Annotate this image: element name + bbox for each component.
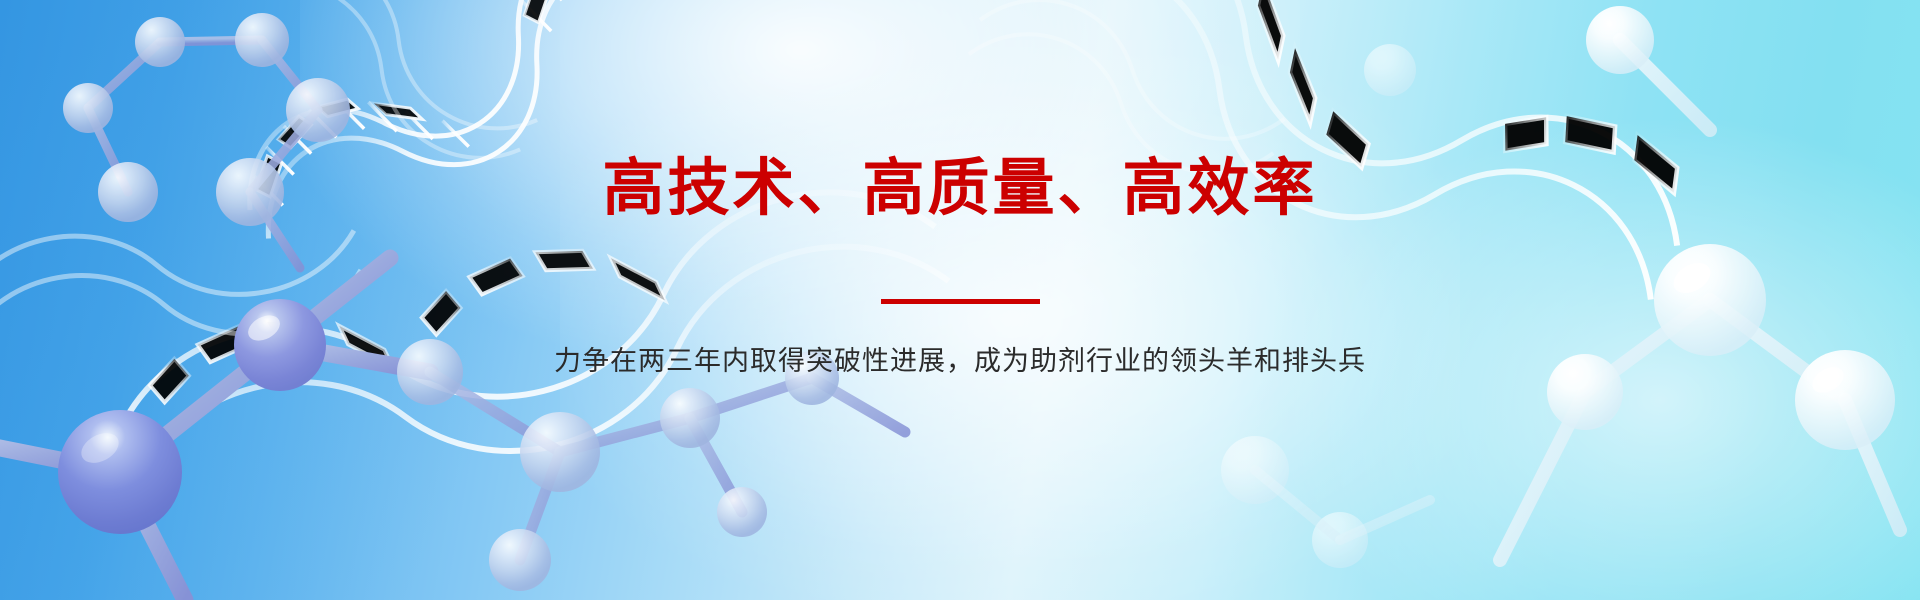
banner-content: 高技术、高质量、高效率 力争在两三年内取得突破性进展，成为助剂行业的领头羊和排头… bbox=[0, 0, 1920, 600]
banner-subtitle: 力争在两三年内取得突破性进展，成为助剂行业的领头羊和排头兵 bbox=[0, 292, 1920, 375]
banner-headline: 高技术、高质量、高效率 bbox=[0, 158, 1920, 220]
promotional-banner: 高技术、高质量、高效率 力争在两三年内取得突破性进展，成为助剂行业的领头羊和排头… bbox=[0, 0, 1920, 600]
